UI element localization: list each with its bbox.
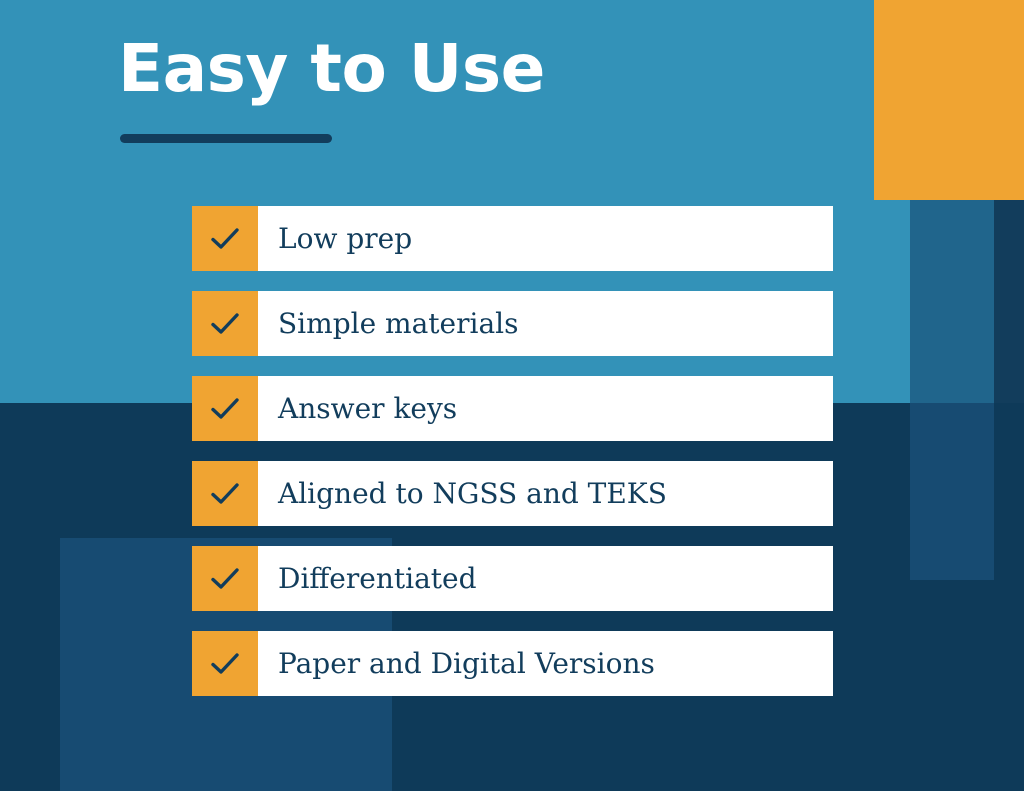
decorative-right-edge-rectangle <box>994 200 1024 403</box>
check-icon <box>210 397 240 421</box>
slide-canvas: Easy to Use Low prep Simple materials <box>0 0 1024 791</box>
decorative-right-upper-rectangle <box>910 200 994 403</box>
list-item: Simple materials <box>192 291 833 356</box>
list-item: Paper and Digital Versions <box>192 631 833 696</box>
list-item: Differentiated <box>192 546 833 611</box>
list-item: Low prep <box>192 206 833 271</box>
page-title: Easy to Use <box>118 36 878 102</box>
list-item: Answer keys <box>192 376 833 441</box>
checkbox-filled <box>192 461 258 526</box>
checkbox-filled <box>192 546 258 611</box>
list-item-label: Aligned to NGSS and TEKS <box>258 461 833 526</box>
decorative-orange-rectangle <box>874 0 1024 200</box>
list-item-label: Paper and Digital Versions <box>258 631 833 696</box>
list-item-label: Low prep <box>258 206 833 271</box>
check-icon <box>210 482 240 506</box>
decorative-right-lower-rectangle <box>910 403 994 580</box>
check-icon <box>210 312 240 336</box>
list-item: Aligned to NGSS and TEKS <box>192 461 833 526</box>
list-item-label: Differentiated <box>258 546 833 611</box>
check-icon <box>210 567 240 591</box>
check-icon <box>210 227 240 251</box>
checkbox-filled <box>192 206 258 271</box>
list-item-label: Answer keys <box>258 376 833 441</box>
title-underline-rule <box>120 134 332 143</box>
list-item-label: Simple materials <box>258 291 833 356</box>
title-block: Easy to Use <box>118 36 878 102</box>
checkbox-filled <box>192 631 258 696</box>
check-icon <box>210 652 240 676</box>
checkbox-filled <box>192 376 258 441</box>
feature-checklist: Low prep Simple materials Answer keys <box>192 206 833 696</box>
checkbox-filled <box>192 291 258 356</box>
